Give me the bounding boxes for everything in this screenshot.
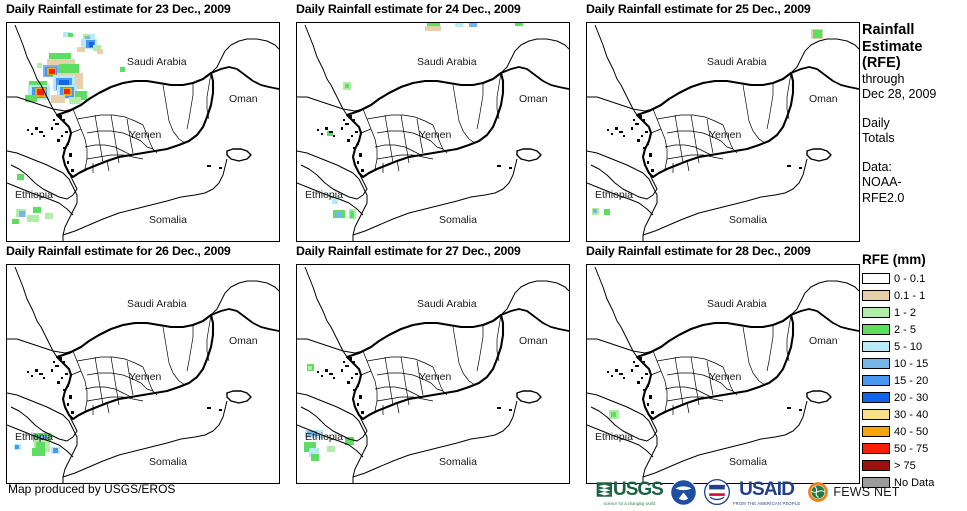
yemen-governorate-border-4 xyxy=(385,115,393,163)
yemen-governorate-border-5 xyxy=(401,115,409,163)
country-label-saudi-arabia: Saudi Arabia xyxy=(417,56,477,68)
legend-item-label: No Data xyxy=(894,477,934,489)
country-label-saudi-arabia: Saudi Arabia xyxy=(707,298,767,310)
yemen-governorate-border-13 xyxy=(687,161,689,171)
country-label-somalia: Somalia xyxy=(439,456,477,468)
coastal-island-16 xyxy=(67,403,69,406)
coastal-island-17 xyxy=(71,411,74,414)
usaid-logo: USAID FROM THE AMERICAN PEOPLE xyxy=(704,479,801,506)
map-frame[interactable]: Saudi ArabiaOmanYemenEthiopiaSomalia xyxy=(296,22,570,242)
coastal-island-0 xyxy=(59,357,62,360)
socotra-island xyxy=(227,149,251,161)
country-label-yemen: Yemen xyxy=(129,129,161,141)
noaa-logo xyxy=(670,479,697,506)
coastal-island-14 xyxy=(317,371,319,373)
legend-item-label: 50 - 75 xyxy=(894,443,928,455)
yemen-governorate-border-10 xyxy=(187,325,193,371)
yemen-governorate-border-1 xyxy=(77,115,143,125)
coastal-island-12 xyxy=(321,133,323,135)
yemen-governorate-border-5 xyxy=(691,115,699,163)
map-panel-2: Daily Rainfall estimate for 24 Dec., 200… xyxy=(290,2,571,244)
oman-border xyxy=(211,309,279,331)
coastal-island-16 xyxy=(357,403,359,406)
country-label-ethiopia: Ethiopia xyxy=(15,431,53,443)
coastal-island-17 xyxy=(651,411,654,414)
coastal-island-0 xyxy=(639,115,642,118)
somalia-coastline xyxy=(353,159,517,235)
sidebar-title-line2: Estimate xyxy=(862,39,967,56)
coastal-island-9 xyxy=(53,119,55,121)
coastal-island-3 xyxy=(631,369,633,372)
sidebar-spacer-2 xyxy=(862,147,967,160)
map-panel-6: Daily Rainfall estimate for 28 Dec., 200… xyxy=(580,244,861,486)
yemen-governorate-border-9 xyxy=(453,85,475,143)
country-label-oman: Oman xyxy=(809,335,838,347)
fews-globe-icon xyxy=(807,481,829,503)
country-label-ethiopia: Ethiopia xyxy=(595,431,633,443)
coastal-island-19 xyxy=(799,167,802,169)
yemen-governorate-border-12 xyxy=(361,371,371,375)
coastal-island-6 xyxy=(347,139,350,142)
coastal-island-1 xyxy=(643,119,645,121)
yemen-governorate-border-1 xyxy=(367,115,433,125)
legend-color-swatch xyxy=(862,358,890,369)
coastal-island-14 xyxy=(317,129,319,131)
oman-border xyxy=(791,309,859,331)
coastal-island-8 xyxy=(63,389,66,391)
sidebar-data-line3: RFE2.0 xyxy=(862,191,967,207)
coastal-island-3 xyxy=(631,127,633,130)
coastal-island-10 xyxy=(325,127,328,130)
country-label-saudi-arabia: Saudi Arabia xyxy=(707,56,767,68)
legend-item-label: > 75 xyxy=(894,460,916,472)
oman-border xyxy=(501,309,569,331)
coastal-island-6 xyxy=(637,381,640,384)
coastal-island-1 xyxy=(353,119,355,121)
coastal-island-19 xyxy=(219,167,222,169)
fews-net-logo-text: FEWS NET xyxy=(833,485,899,499)
yemen-governorate-border-13 xyxy=(107,161,109,171)
coastal-island-13 xyxy=(333,135,335,137)
yemen-governorate-border-10 xyxy=(767,325,773,371)
country-label-saudi-arabia: Saudi Arabia xyxy=(417,298,477,310)
coastal-island-2 xyxy=(345,365,349,367)
map-panel-title: Daily Rainfall estimate for 26 Dec., 200… xyxy=(6,244,231,258)
coastal-island-4 xyxy=(355,373,358,375)
coastal-island-4 xyxy=(645,373,648,375)
sidebar-data-line2: NOAA- xyxy=(862,175,967,191)
coastal-island-2 xyxy=(635,123,639,125)
yemen-national-border xyxy=(57,73,213,177)
coastal-island-4 xyxy=(65,131,68,133)
sidebar-totals-line1: Daily xyxy=(862,116,967,132)
coastal-island-9 xyxy=(343,119,345,121)
socotra-island xyxy=(517,391,541,403)
usgs-logo-text: USGS xyxy=(613,479,663,501)
yemen-governorate-border-10 xyxy=(477,325,483,371)
somalia-coastline xyxy=(63,159,227,235)
coastal-island-2 xyxy=(635,365,639,367)
coastal-island-15 xyxy=(649,395,652,399)
country-label-yemen: Yemen xyxy=(419,371,451,383)
somalia-coastline xyxy=(643,401,807,477)
coastal-island-18 xyxy=(497,165,501,167)
coastal-island-7 xyxy=(67,385,69,387)
yemen-governorate-border-1 xyxy=(77,357,143,367)
socotra-island xyxy=(807,149,831,161)
coastal-island-7 xyxy=(647,143,649,145)
legend-item: 0.1 - 1 xyxy=(862,288,967,303)
fews-net-logo: FEWS NET xyxy=(807,481,899,503)
coastal-island-12 xyxy=(611,133,613,135)
country-label-saudi-arabia: Saudi Arabia xyxy=(127,56,187,68)
map-frame[interactable]: Saudi ArabiaOmanYemenEthiopiaSomalia xyxy=(586,264,860,484)
yemen-governorate-border-1 xyxy=(367,357,433,367)
coastal-island-10 xyxy=(615,127,618,130)
legend-item-label: 20 - 30 xyxy=(894,392,928,404)
usgs-wave-icon xyxy=(596,481,613,498)
yemen-governorate-border-1 xyxy=(657,357,723,367)
oman-border xyxy=(211,67,279,89)
coastal-island-5 xyxy=(641,377,643,379)
yemen-governorate-border-9 xyxy=(743,327,765,385)
yemen-governorate-border-3 xyxy=(375,387,421,397)
coastal-island-11 xyxy=(39,131,43,133)
coastal-island-14 xyxy=(607,129,609,131)
legend-item: 30 - 40 xyxy=(862,407,967,422)
usaid-logo-text: USAID xyxy=(739,479,794,501)
coastal-island-6 xyxy=(637,139,640,142)
legend-item-label: 2 - 5 xyxy=(894,324,916,336)
yemen-governorate-border-5 xyxy=(111,357,119,405)
legend: RFE (mm) 0 - 0.10.1 - 11 - 22 - 55 - 101… xyxy=(862,252,967,492)
legend-item-label: 1 - 2 xyxy=(894,307,916,319)
yemen-governorate-border-12 xyxy=(71,129,81,133)
coastal-island-6 xyxy=(57,139,60,142)
usgs-logo: USGS science for a changing world xyxy=(596,479,663,506)
yemen-national-border xyxy=(57,315,213,419)
country-label-yemen: Yemen xyxy=(709,371,741,383)
coastal-island-17 xyxy=(361,411,364,414)
map-canvas: Saudi ArabiaOmanYemenEthiopiaSomalia xyxy=(7,265,279,483)
coastal-island-4 xyxy=(645,131,648,133)
sidebar-spacer-1 xyxy=(862,103,967,116)
map-canvas: Saudi ArabiaOmanYemenEthiopiaSomalia xyxy=(297,23,569,241)
legend-item: 2 - 5 xyxy=(862,322,967,337)
coastal-island-19 xyxy=(509,167,512,169)
sidebar-title-line1: Rainfall xyxy=(862,22,967,39)
coastal-island-18 xyxy=(207,407,211,409)
map-canvas: Saudi ArabiaOmanYemenEthiopiaSomalia xyxy=(7,23,279,241)
yemen-governorate-border-3 xyxy=(665,387,711,397)
coastal-island-7 xyxy=(357,143,359,145)
coastal-island-9 xyxy=(633,361,635,363)
coastal-island-15 xyxy=(649,153,652,157)
coastal-island-14 xyxy=(27,371,29,373)
coastal-island-15 xyxy=(69,153,72,157)
coastal-island-1 xyxy=(643,361,645,363)
legend-color-swatch xyxy=(862,341,890,352)
legend-item: 10 - 15 xyxy=(862,356,967,371)
coastal-island-12 xyxy=(31,133,33,135)
coastal-island-19 xyxy=(219,409,222,411)
legend-color-swatch xyxy=(862,392,890,403)
legend-color-swatch xyxy=(862,443,890,454)
yemen-governorate-border-9 xyxy=(163,327,185,385)
yemen-governorate-border-4 xyxy=(675,357,683,405)
yemen-governorate-border-13 xyxy=(107,403,109,413)
country-label-oman: Oman xyxy=(229,93,258,105)
legend-color-swatch xyxy=(862,426,890,437)
coastal-island-17 xyxy=(361,169,364,172)
map-panel-title: Daily Rainfall estimate for 28 Dec., 200… xyxy=(586,244,811,258)
coastal-island-1 xyxy=(63,361,65,363)
sidebar-totals-line2: Totals xyxy=(862,131,967,147)
coastal-island-13 xyxy=(623,377,625,379)
socotra-island xyxy=(517,149,541,161)
usgs-logo-tagline: science for a changing world xyxy=(603,501,655,506)
coastal-island-0 xyxy=(639,357,642,360)
yemen-governorate-border-9 xyxy=(453,327,475,385)
coastal-island-15 xyxy=(359,395,362,399)
coastal-island-19 xyxy=(509,409,512,411)
yemen-governorate-border-12 xyxy=(361,129,371,133)
oman-border xyxy=(501,67,569,89)
legend-item: 0 - 0.1 xyxy=(862,271,967,286)
coastal-island-11 xyxy=(329,131,333,133)
coastal-island-13 xyxy=(43,135,45,137)
yemen-governorate-border-5 xyxy=(111,115,119,163)
coastal-island-5 xyxy=(351,377,353,379)
coastal-island-10 xyxy=(325,369,328,372)
yemen-governorate-border-5 xyxy=(691,357,699,405)
coastal-island-1 xyxy=(63,119,65,121)
yemen-governorate-border-3 xyxy=(85,387,131,397)
map-frame[interactable]: Saudi ArabiaOmanYemenEthiopiaSomalia xyxy=(6,22,280,242)
yemen-governorate-border-4 xyxy=(95,115,103,163)
yemen-governorate-border-13 xyxy=(397,161,399,171)
map-canvas: Saudi ArabiaOmanYemenEthiopiaSomalia xyxy=(587,23,859,241)
coastal-island-6 xyxy=(347,381,350,384)
legend-item-label: 0.1 - 1 xyxy=(894,290,925,302)
coastal-island-15 xyxy=(69,395,72,399)
legend-item: 50 - 75 xyxy=(862,441,967,456)
legend-item: 1 - 2 xyxy=(862,305,967,320)
usaid-logo-tagline: FROM THE AMERICAN PEOPLE xyxy=(733,501,801,506)
map-credit: Map produced by USGS/EROS xyxy=(8,482,175,496)
coastal-island-17 xyxy=(71,169,74,172)
country-label-oman: Oman xyxy=(519,93,548,105)
coastal-island-14 xyxy=(27,129,29,131)
coastal-island-16 xyxy=(647,161,649,164)
map-panel-title: Daily Rainfall estimate for 23 Dec., 200… xyxy=(6,2,231,16)
coastal-island-19 xyxy=(799,409,802,411)
somalia-coastline xyxy=(63,401,227,477)
coastal-island-8 xyxy=(353,147,356,149)
yemen-governorate-border-4 xyxy=(385,357,393,405)
yemen-governorate-border-12 xyxy=(651,129,661,133)
map-panel-1: Daily Rainfall estimate for 23 Dec., 200… xyxy=(0,2,281,244)
country-label-oman: Oman xyxy=(809,93,838,105)
yemen-governorate-border-12 xyxy=(71,371,81,375)
coastal-island-13 xyxy=(623,135,625,137)
country-label-ethiopia: Ethiopia xyxy=(15,189,53,201)
yemen-governorate-border-10 xyxy=(767,83,773,129)
country-label-ethiopia: Ethiopia xyxy=(595,189,633,201)
coastal-island-18 xyxy=(497,407,501,409)
country-label-saudi-arabia: Saudi Arabia xyxy=(127,298,187,310)
coastal-island-10 xyxy=(615,369,618,372)
yemen-national-border xyxy=(347,73,503,177)
rfe-map-page: Daily Rainfall estimate for 23 Dec., 200… xyxy=(0,0,967,511)
yemen-national-border xyxy=(637,315,793,419)
coastal-island-1 xyxy=(353,361,355,363)
coastal-island-16 xyxy=(647,403,649,406)
coastal-island-4 xyxy=(355,131,358,133)
country-label-somalia: Somalia xyxy=(729,456,767,468)
coastal-island-7 xyxy=(357,385,359,387)
coastal-island-5 xyxy=(641,135,643,137)
coastal-island-14 xyxy=(607,371,609,373)
sidebar-through-label: through xyxy=(862,72,967,88)
coastal-island-10 xyxy=(35,369,38,372)
coastal-island-5 xyxy=(61,377,63,379)
legend-item: 20 - 30 xyxy=(862,390,967,405)
country-label-ethiopia: Ethiopia xyxy=(305,189,343,201)
country-label-oman: Oman xyxy=(519,335,548,347)
map-frame[interactable]: Saudi ArabiaOmanYemenEthiopiaSomalia xyxy=(6,264,280,484)
yemen-governorate-border-13 xyxy=(687,403,689,413)
map-panel-5: Daily Rainfall estimate for 27 Dec., 200… xyxy=(290,244,571,486)
socotra-island xyxy=(807,391,831,403)
yemen-governorate-border-4 xyxy=(95,357,103,405)
yemen-governorate-border-1 xyxy=(657,115,723,125)
country-label-somalia: Somalia xyxy=(439,214,477,226)
coastal-island-12 xyxy=(321,375,323,377)
coastal-island-15 xyxy=(359,153,362,157)
country-label-yemen: Yemen xyxy=(709,129,741,141)
country-label-somalia: Somalia xyxy=(149,456,187,468)
map-frame[interactable]: Saudi ArabiaOmanYemenEthiopiaSomalia xyxy=(296,264,570,484)
coastal-island-13 xyxy=(333,377,335,379)
coastal-island-12 xyxy=(31,375,33,377)
coastal-island-9 xyxy=(53,361,55,363)
legend-color-swatch xyxy=(862,375,890,386)
yemen-governorate-border-10 xyxy=(477,83,483,129)
coastal-island-6 xyxy=(57,381,60,384)
legend-color-swatch xyxy=(862,273,890,284)
coastal-island-5 xyxy=(61,135,63,137)
coastal-island-3 xyxy=(341,127,343,130)
sidebar: Rainfall Estimate (RFE) through Dec 28, … xyxy=(862,22,967,206)
coastal-island-3 xyxy=(51,127,53,130)
coastal-island-2 xyxy=(55,365,59,367)
coastal-island-8 xyxy=(643,389,646,391)
legend-color-swatch xyxy=(862,460,890,471)
coastal-island-8 xyxy=(63,147,66,149)
coastal-island-11 xyxy=(329,373,333,375)
coastal-island-9 xyxy=(633,119,635,121)
yemen-governorate-border-9 xyxy=(743,85,765,143)
sidebar-through-date: Dec 28, 2009 xyxy=(862,87,967,103)
legend-item-label: 10 - 15 xyxy=(894,358,928,370)
coastal-island-10 xyxy=(35,127,38,130)
coastal-island-4 xyxy=(65,373,68,375)
legend-title: RFE (mm) xyxy=(862,252,967,267)
coastal-island-17 xyxy=(651,169,654,172)
yemen-governorate-border-4 xyxy=(675,115,683,163)
map-panel-title: Daily Rainfall estimate for 27 Dec., 200… xyxy=(296,244,521,258)
coastal-island-2 xyxy=(345,123,349,125)
map-frame[interactable]: Saudi ArabiaOmanYemenEthiopiaSomalia xyxy=(586,22,860,242)
coastal-island-18 xyxy=(787,165,791,167)
country-label-oman: Oman xyxy=(229,335,258,347)
country-label-ethiopia: Ethiopia xyxy=(305,431,343,443)
coastal-island-0 xyxy=(349,357,352,360)
legend-item-label: 30 - 40 xyxy=(894,409,928,421)
yemen-national-border xyxy=(637,73,793,177)
oman-border xyxy=(791,67,859,89)
coastal-island-16 xyxy=(67,161,69,164)
sidebar-data-line1: Data: xyxy=(862,160,967,176)
legend-item: 15 - 20 xyxy=(862,373,967,388)
map-canvas: Saudi ArabiaOmanYemenEthiopiaSomalia xyxy=(587,265,859,483)
coastal-island-8 xyxy=(643,147,646,149)
legend-item-label: 15 - 20 xyxy=(894,375,928,387)
coastal-island-5 xyxy=(351,135,353,137)
legend-color-swatch xyxy=(862,290,890,301)
yemen-governorate-border-12 xyxy=(651,371,661,375)
yemen-governorate-border-9 xyxy=(163,85,185,143)
coastal-island-11 xyxy=(619,131,623,133)
yemen-governorate-border-3 xyxy=(85,145,131,155)
coastal-island-3 xyxy=(51,369,53,372)
coastal-island-3 xyxy=(341,369,343,372)
legend-color-swatch xyxy=(862,307,890,318)
legend-rows: 0 - 0.10.1 - 11 - 22 - 55 - 1010 - 1515 … xyxy=(862,271,967,490)
yemen-governorate-border-3 xyxy=(375,145,421,155)
country-label-yemen: Yemen xyxy=(419,129,451,141)
coastal-island-11 xyxy=(619,373,623,375)
coastal-island-8 xyxy=(353,389,356,391)
coastal-island-16 xyxy=(357,161,359,164)
country-label-yemen: Yemen xyxy=(129,371,161,383)
yemen-governorate-border-5 xyxy=(401,357,409,405)
coastal-island-0 xyxy=(59,115,62,118)
coastal-island-18 xyxy=(787,407,791,409)
map-panel-4: Daily Rainfall estimate for 26 Dec., 200… xyxy=(0,244,281,486)
legend-item-label: 5 - 10 xyxy=(894,341,922,353)
legend-item: > 75 xyxy=(862,458,967,473)
coastal-island-12 xyxy=(611,375,613,377)
map-panel-title: Daily Rainfall estimate for 24 Dec., 200… xyxy=(296,2,521,16)
country-label-somalia: Somalia xyxy=(149,214,187,226)
yemen-governorate-border-10 xyxy=(187,83,193,129)
coastal-island-18 xyxy=(207,165,211,167)
noaa-seal-icon xyxy=(670,479,697,506)
coastal-island-11 xyxy=(39,373,43,375)
coastal-island-9 xyxy=(343,361,345,363)
usaid-seal-icon xyxy=(704,479,730,505)
coastal-island-0 xyxy=(349,115,352,118)
legend-color-swatch xyxy=(862,409,890,420)
legend-item-label: 0 - 0.1 xyxy=(894,273,925,285)
agency-logos: USGS science for a changing world xyxy=(596,476,900,508)
yemen-national-border xyxy=(347,315,503,419)
coastal-island-13 xyxy=(43,377,45,379)
legend-item: 40 - 50 xyxy=(862,424,967,439)
yemen-governorate-border-13 xyxy=(397,403,399,413)
